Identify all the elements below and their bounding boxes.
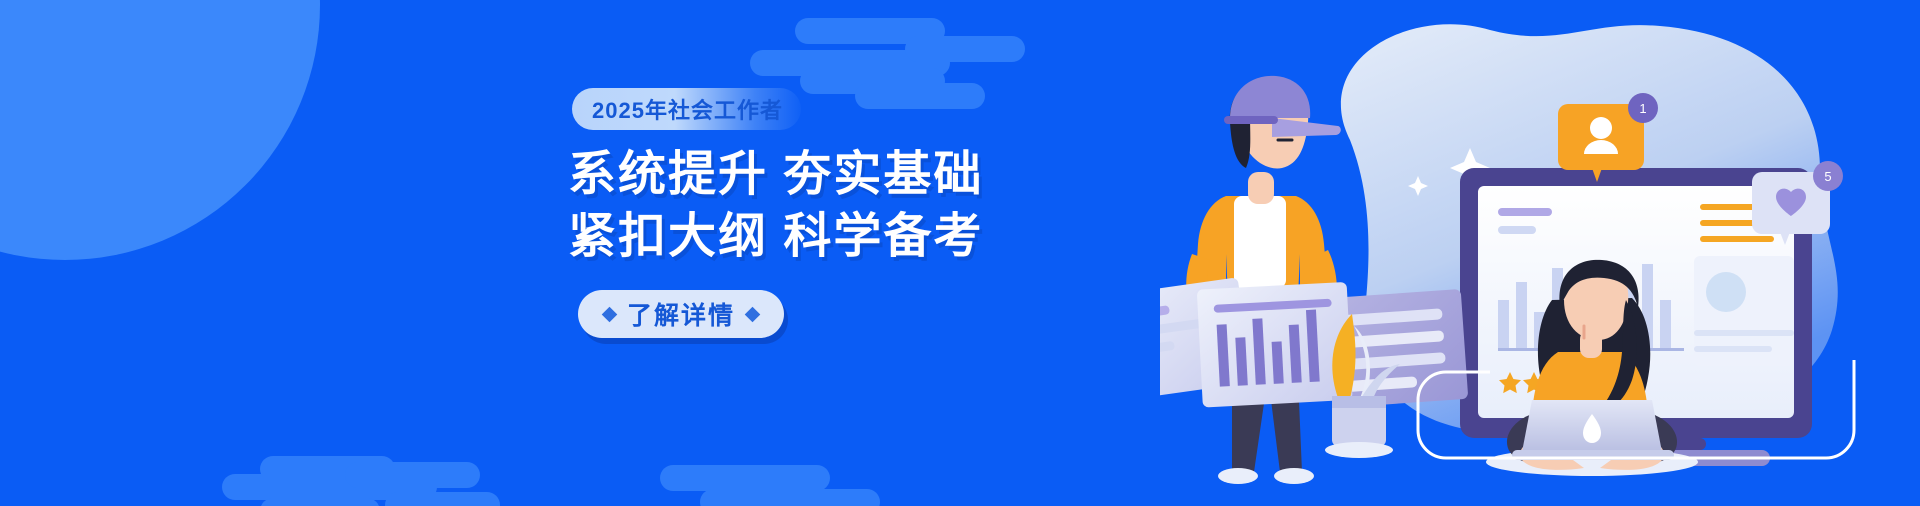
- year-badge: 2025年社会工作者: [572, 88, 801, 130]
- learn-more-label: 了解详情: [627, 296, 735, 332]
- illustration: 1 5: [1160, 0, 1920, 506]
- notification-count: 1: [1639, 101, 1646, 116]
- diamond-icon-right: [745, 306, 761, 322]
- like-count: 5: [1824, 169, 1831, 184]
- promo-banner: 2025年社会工作者 系统提升 夯实基础 紧扣大纲 科学备考 了解详情: [0, 0, 1920, 506]
- chart-boards: [1160, 277, 1468, 408]
- like-badge: 5: [1752, 161, 1843, 245]
- headline-line-2: 紧扣大纲 科学备考: [568, 206, 1028, 268]
- learn-more-button[interactable]: 了解详情: [578, 290, 784, 338]
- headline-line-1: 系统提升 夯实基础: [568, 144, 1028, 206]
- headline-block: 系统提升 夯实基础 紧扣大纲 科学备考: [568, 144, 1028, 268]
- banner-content: 2025年社会工作者 系统提升 夯实基础 紧扣大纲 科学备考 了解详情: [0, 0, 1020, 506]
- diamond-icon-left: [602, 306, 618, 322]
- standing-person: [1186, 76, 1341, 484]
- year-badge-label: 2025年社会工作者: [592, 93, 783, 125]
